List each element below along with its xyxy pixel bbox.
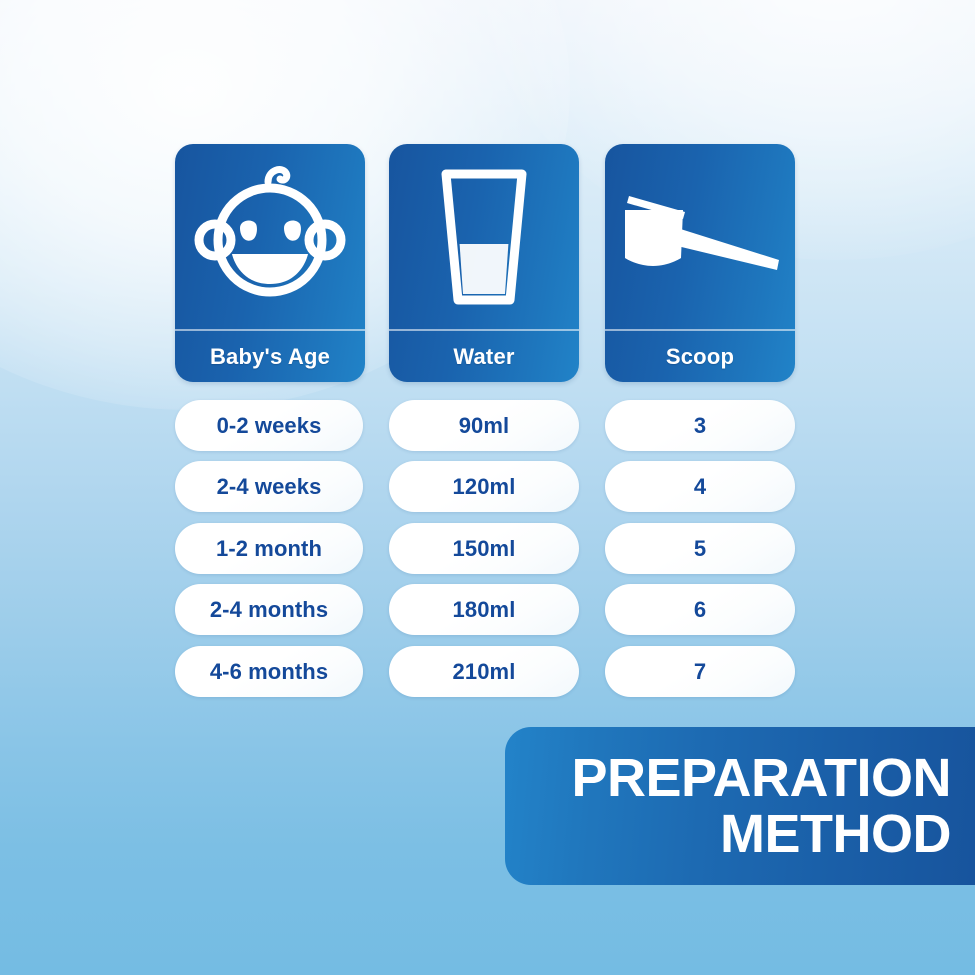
header-card-water: Water (389, 144, 579, 382)
table-row-cell-water: 90ml (389, 400, 579, 451)
cell-value: 7 (694, 659, 706, 685)
table-row-cell-age: 4-6 months (175, 646, 363, 697)
cell-value: 90ml (459, 413, 510, 439)
cell-value: 2-4 weeks (217, 474, 322, 500)
cell-value: 6 (694, 597, 706, 623)
header-icon-area-age (175, 144, 365, 329)
cell-value: 4-6 months (210, 659, 328, 685)
preparation-method-infographic: Baby's Age Water (0, 0, 975, 975)
cell-value: 150ml (453, 536, 516, 562)
table-row-cell-scoop: 4 (605, 461, 795, 512)
cell-value: 2-4 months (210, 597, 328, 623)
column-header-label-age: Baby's Age (210, 344, 330, 370)
cell-value: 180ml (453, 597, 516, 623)
table-row-cell-scoop: 3 (605, 400, 795, 451)
cell-value: 4 (694, 474, 706, 500)
cell-value: 3 (694, 413, 706, 439)
cell-value: 5 (694, 536, 706, 562)
cell-value: 210ml (453, 659, 516, 685)
table-row-cell-age: 0-2 weeks (175, 400, 363, 451)
header-icon-area-scoop (605, 144, 795, 329)
column-header-label-scoop: Scoop (666, 344, 734, 370)
measuring-scoop-icon (611, 174, 789, 290)
table-row-cell-scoop: 6 (605, 584, 795, 635)
table-row-cell-water: 180ml (389, 584, 579, 635)
column-header-label-water: Water (453, 344, 514, 370)
header-label-area-water: Water (389, 331, 579, 382)
table-row-cell-water: 210ml (389, 646, 579, 697)
table-row-cell-water: 120ml (389, 461, 579, 512)
header-card-age: Baby's Age (175, 144, 365, 382)
preparation-method-banner: PREPARATION METHOD (505, 727, 975, 885)
table-row-cell-age: 2-4 months (175, 584, 363, 635)
header-card-scoop: Scoop (605, 144, 795, 382)
table-row-cell-water: 150ml (389, 523, 579, 574)
cell-value: 0-2 weeks (217, 413, 322, 439)
water-glass-icon (432, 162, 536, 312)
cell-value: 120ml (453, 474, 516, 500)
banner-line-1: PREPARATION (571, 750, 951, 806)
header-label-area-age: Baby's Age (175, 331, 365, 382)
cell-value: 1-2 month (216, 536, 322, 562)
table-row-cell-scoop: 5 (605, 523, 795, 574)
header-label-area-scoop: Scoop (605, 331, 795, 382)
banner-line-2: METHOD (720, 806, 951, 862)
table-row-cell-age: 2-4 weeks (175, 461, 363, 512)
baby-face-icon (190, 160, 350, 312)
table-row-cell-age: 1-2 month (175, 523, 363, 574)
table-row-cell-scoop: 7 (605, 646, 795, 697)
header-icon-area-water (389, 144, 579, 329)
